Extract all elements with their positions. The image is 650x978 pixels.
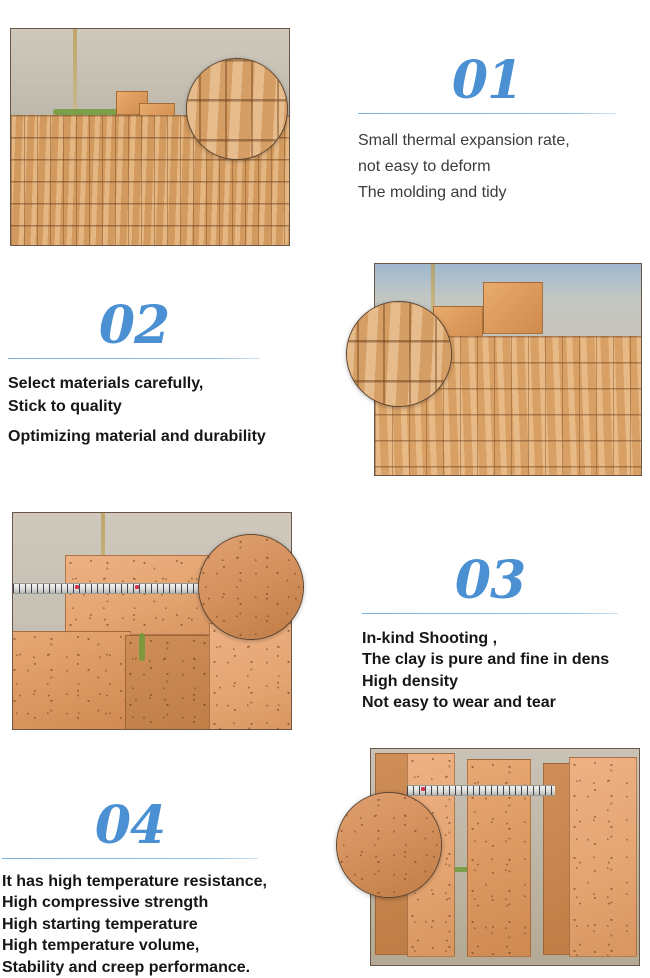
section-02-line-2: Stick to quality (8, 396, 338, 419)
section-01-line-2: not easy to deform (358, 154, 616, 180)
section-02-lines: Select materials carefully, Stick to qua… (8, 373, 338, 449)
section-03-line-4: Not easy to wear and tear (362, 692, 650, 713)
section-01-number: 01 (358, 55, 616, 107)
section-04-text: 04 It has high temperature resistance, H… (2, 800, 258, 978)
brick-measurement-photo (12, 512, 292, 730)
section-04-line-2: High compressive strength (2, 892, 332, 913)
section-01-lines: Small thermal expansion rate, not easy t… (358, 128, 616, 206)
section-04-line-1: It has high temperature resistance, (2, 871, 332, 892)
tape-measure (13, 583, 199, 594)
infographic-page: 01 Small thermal expansion rate, not eas… (0, 0, 650, 976)
section-04-lines: It has high temperature resistance, High… (2, 871, 332, 978)
section-04-number: 04 (2, 800, 258, 852)
stacked-brick-wall-photo (10, 28, 290, 246)
section-02-divider (8, 358, 260, 359)
magnifier-circle (186, 58, 288, 160)
section-02-line-3: Optimizing material and durability (8, 426, 338, 449)
magnifier-circle (336, 792, 442, 898)
section-03-number: 03 (362, 555, 618, 607)
section-04-line-3: High starting temperature (2, 914, 332, 935)
section-01-text: 01 Small thermal expansion rate, not eas… (358, 55, 616, 206)
standing-bricks-photo (370, 748, 640, 966)
section-02-line-1: Select materials carefully, (8, 373, 338, 396)
brick-stack-closeup-photo (374, 263, 642, 476)
section-02-number: 02 (8, 300, 260, 352)
section-03-line-1: In-kind Shooting , (362, 628, 650, 649)
section-01-line-1: Small thermal expansion rate, (358, 128, 616, 154)
section-01-line-3: The molding and tidy (358, 180, 616, 206)
section-04-divider (2, 858, 258, 859)
section-03-text: 03 In-kind Shooting , The clay is pure a… (362, 555, 618, 714)
section-03-lines: In-kind Shooting , The clay is pure and … (362, 628, 650, 714)
section-03-line-2: The clay is pure and fine in dens (362, 649, 650, 670)
section-02-text: 02 Select materials carefully, Stick to … (8, 300, 260, 449)
section-04-line-4: High temperature volume, (2, 935, 332, 956)
magnifier-circle (198, 534, 304, 640)
section-04-line-5: Stability and creep performance. (2, 957, 332, 978)
section-03-line-3: High density (362, 671, 650, 692)
magnifier-circle (346, 301, 452, 407)
section-03-divider (362, 613, 618, 614)
section-01-divider (358, 113, 616, 114)
